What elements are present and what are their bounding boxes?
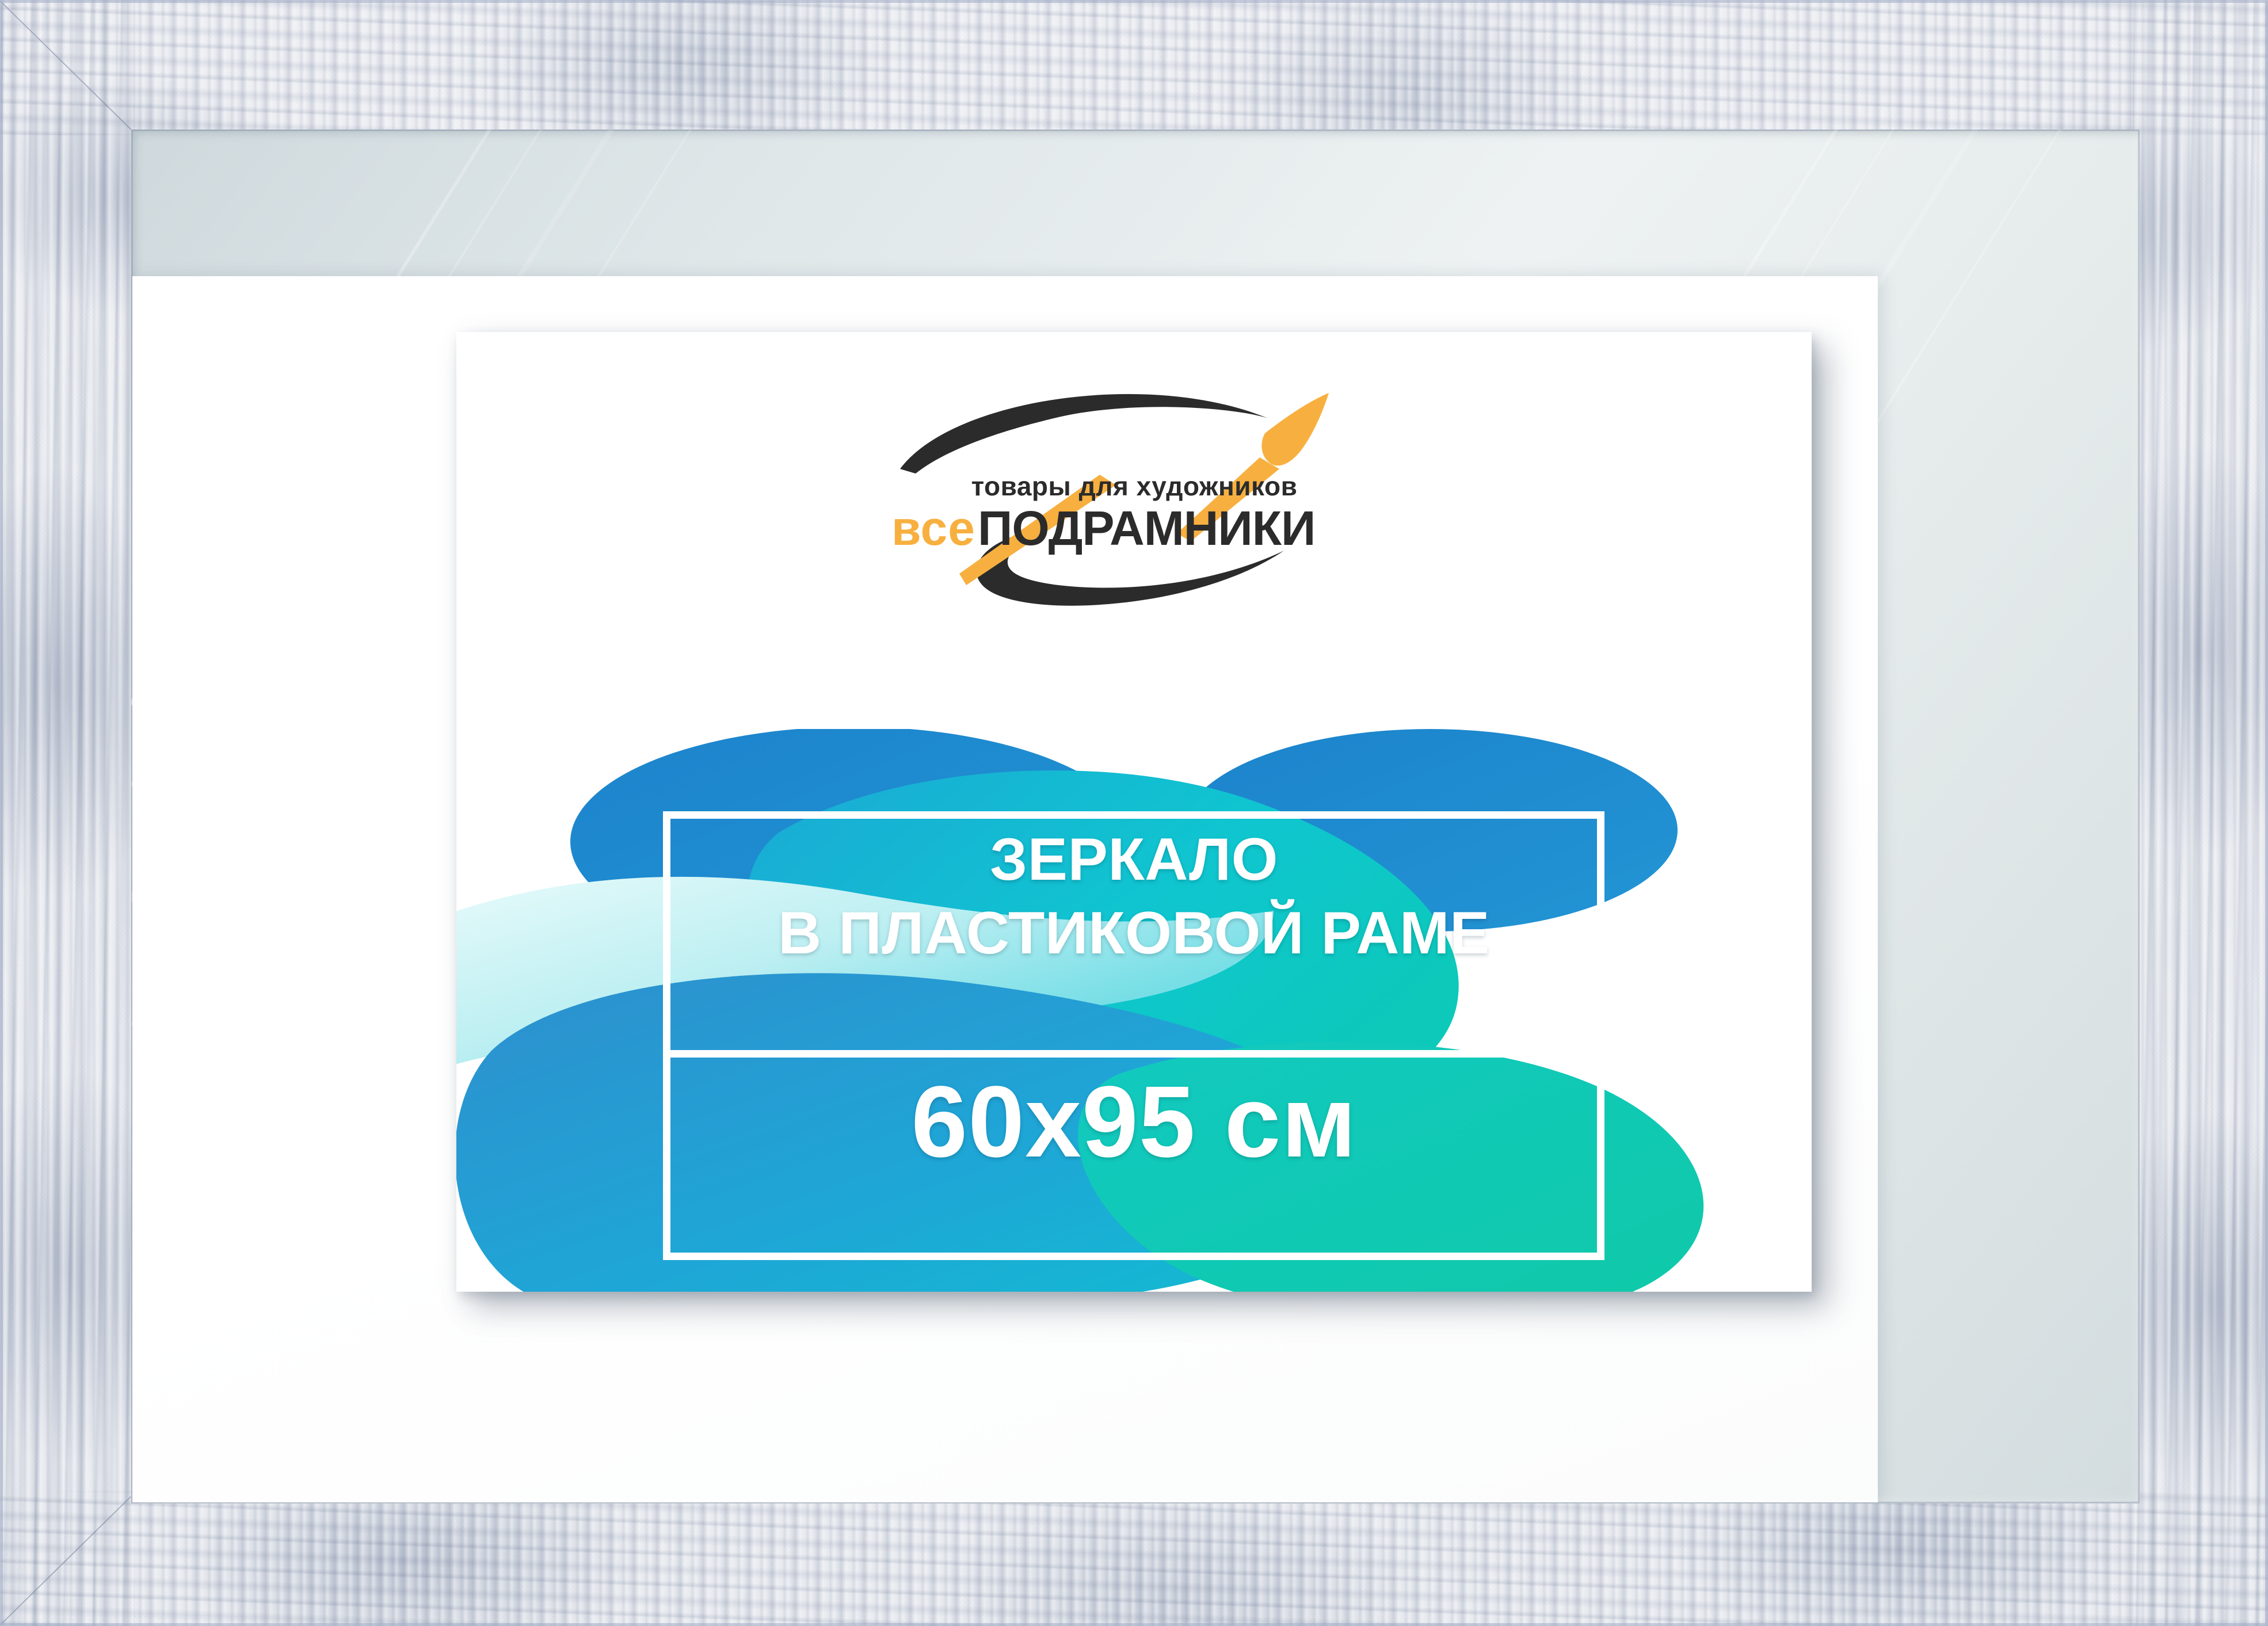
brand-tagline: товары для художников [971, 471, 1297, 501]
product-title-line-2: В ПЛАСТИКОВОЙ РАМЕ [456, 902, 1812, 965]
brand-logo: товары для художников все ПОДРАМНИКИ [829, 383, 1439, 607]
frame-grain-left [0, 0, 135, 1626]
frame-grain-right [2133, 0, 2268, 1626]
brand-name-highlight: все [891, 501, 975, 555]
ellipse-swoosh-icon-top [900, 394, 1268, 474]
decorative-blobs [456, 729, 1812, 1292]
product-label-card: товары для художников все ПОДРАМНИКИ [456, 332, 1812, 1292]
frame-miter-top-left [0, 0, 131, 130]
brand-name-main: ПОДРАМНИКИ [978, 501, 1315, 555]
frame-grain-bottom [0, 1491, 2268, 1626]
product-photo: товары для художников все ПОДРАМНИКИ [0, 0, 2268, 1626]
frame-grain-top [0, 0, 2268, 135]
product-size-label: 60x95 см [456, 1071, 1812, 1173]
product-title-line-1: ЗЕРКАЛО [456, 828, 1812, 891]
frame-miter-bottom-left [0, 1496, 131, 1626]
brush-head-icon [1261, 393, 1329, 465]
